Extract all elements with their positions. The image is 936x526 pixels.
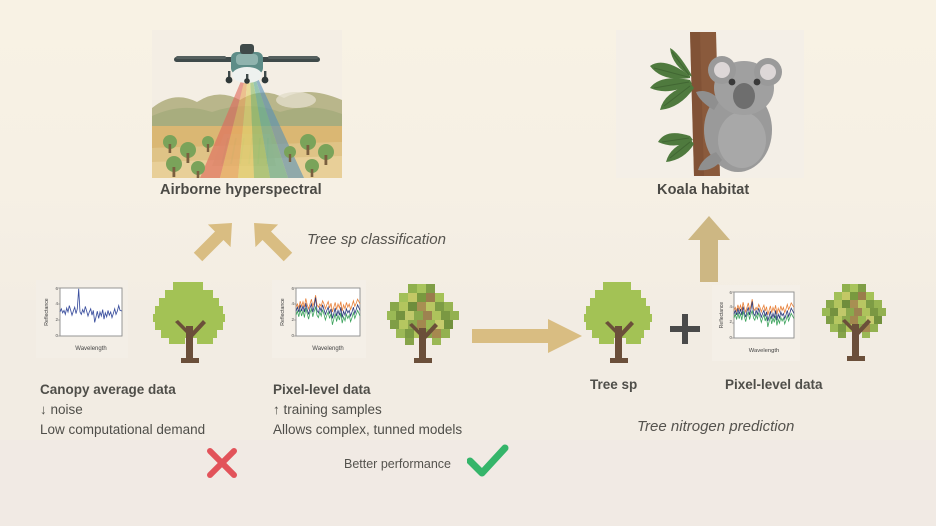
tree-sp-classification-label: Tree sp classification — [307, 231, 446, 248]
pixel-plot-right-xlabel: Wavelength — [749, 348, 779, 354]
airborne-hyperspectral-caption: Airborne hyperspectral — [160, 182, 322, 198]
canopy-computational-line: Low computational demand — [40, 422, 205, 437]
solid-green-tree-icon — [145, 278, 237, 364]
koala-eye-right — [754, 79, 761, 86]
koala-habitat-illustration — [616, 30, 804, 178]
pixel-complex-models-line: Allows complex, tunned models — [273, 422, 462, 437]
koala-nose — [733, 83, 755, 109]
canopy-plot-xlabel: Wavelength — [75, 346, 106, 352]
arrow-down-left-icon — [187, 212, 244, 268]
svg-text:2: 2 — [55, 317, 58, 322]
plus-icon — [668, 312, 702, 346]
pixel-plot-right-ylabel: Reflectance — [719, 302, 725, 329]
tree-nitrogen-prediction-label: Tree nitrogen prediction — [637, 418, 794, 435]
cross-icon — [205, 446, 239, 480]
pixel-training-samples-line: ↑ training samples — [273, 402, 382, 417]
arrow-down-right-icon — [243, 212, 300, 268]
canopy-plot-ylabel: Reflectance — [44, 298, 50, 326]
airborne-hyperspectral-illustration — [152, 30, 342, 178]
pixel-level-spectral-plot-left: 6 4 2 0 Reflectance Wavelength — [272, 280, 366, 358]
arrow-up-icon — [686, 214, 732, 284]
pixelated-mixed-tree-icon — [378, 278, 470, 364]
pixel-level-spectral-plot-right: 6 4 2 0 Reflectance Wavelength — [712, 285, 800, 361]
svg-text:0: 0 — [55, 333, 58, 338]
canopy-average-spectral-plot: 6 4 2 0 Reflectance Wavelength — [36, 280, 128, 358]
solid-green-tree-icon-result — [577, 278, 663, 364]
canopy-average-data-title: Canopy average data — [40, 382, 176, 397]
koala-habitat-caption: Koala habitat — [657, 182, 749, 198]
svg-text:4: 4 — [291, 301, 294, 306]
svg-text:2: 2 — [291, 317, 294, 322]
svg-text:4: 4 — [55, 301, 58, 306]
better-performance-label: Better performance — [344, 457, 451, 471]
svg-text:6: 6 — [55, 286, 58, 291]
koala-eye-left — [729, 79, 736, 86]
svg-text:0: 0 — [291, 333, 294, 338]
pixel-plot-left-xlabel: Wavelength — [312, 346, 343, 352]
pixel-level-data-right-caption: Pixel-level data — [725, 377, 823, 392]
pixel-plot-left-ylabel: Reflectance — [280, 298, 286, 326]
check-icon — [467, 444, 509, 480]
svg-text:6: 6 — [291, 286, 294, 291]
pixel-level-data-title: Pixel-level data — [273, 382, 371, 397]
split-arrows — [185, 212, 325, 270]
pixelated-mixed-tree-icon-right — [814, 278, 900, 364]
tree-sp-caption: Tree sp — [590, 377, 637, 392]
arrow-right-icon — [470, 318, 586, 354]
canopy-noise-line: ↓ noise — [40, 402, 83, 417]
